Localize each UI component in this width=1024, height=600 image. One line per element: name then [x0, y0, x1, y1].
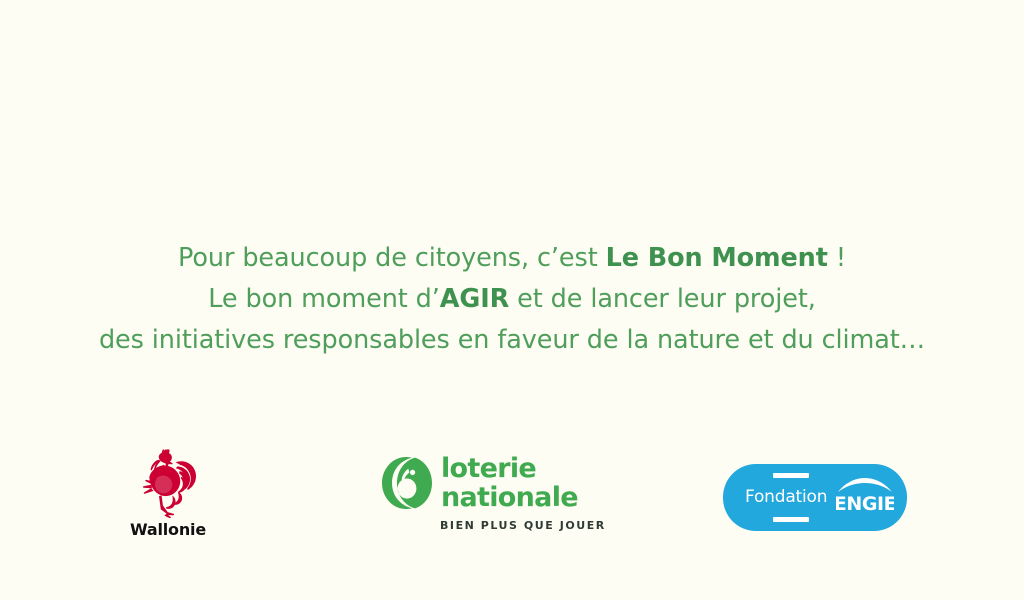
loterie-tagline: BIEN PLUS QUE JOUER	[440, 519, 606, 532]
loterie-spiral-icon	[381, 456, 433, 510]
wallonie-wordmark: Wallonie	[118, 520, 218, 539]
loterie-word-line2: nationale	[441, 483, 606, 512]
headline-line-2-text-after: et de lancer leur projet,	[509, 284, 816, 314]
rooster-icon	[129, 446, 207, 518]
logo-wallonie: Wallonie	[118, 446, 218, 546]
headline-line-1-text-after: !	[828, 243, 846, 273]
headline-line-3: des initiatives responsables en faveur d…	[0, 320, 1024, 361]
engie-bar-top-icon	[773, 473, 809, 478]
headline-line-1-text-before: Pour beaucoup de citoyens, c’est	[178, 243, 606, 273]
partner-logo-strip: Wallonie loterie nationale BIEN PLUS QUE…	[0, 446, 1024, 550]
loterie-word-line1: loterie	[441, 454, 606, 483]
engie-arc-icon: ENGIE	[836, 477, 894, 517]
headline-line-2: Le bon moment d’AGIR et de lancer leur p…	[0, 279, 1024, 320]
headline-message: Pour beaucoup de citoyens, c’est Le Bon …	[0, 238, 1024, 361]
headline-line-1: Pour beaucoup de citoyens, c’est Le Bon …	[0, 238, 1024, 279]
loterie-lockup: loterie nationale BIEN PLUS QUE JOUER	[441, 454, 606, 532]
logo-fondation-engie: Fondation ENGIE	[723, 464, 907, 531]
engie-fondation-label: Fondation	[745, 487, 827, 507]
headline-line-1-emphasis: Le Bon Moment	[606, 243, 828, 273]
headline-line-2-text-before: Le bon moment d’	[208, 284, 440, 314]
logo-loterie-nationale: loterie nationale BIEN PLUS QUE JOUER	[381, 454, 611, 544]
slide-canvas: Pour beaucoup de citoyens, c’est Le Bon …	[0, 0, 1024, 600]
svg-text:ENGIE: ENGIE	[836, 493, 894, 515]
engie-bar-bottom-icon	[773, 517, 809, 522]
headline-line-2-emphasis: AGIR	[440, 284, 509, 314]
